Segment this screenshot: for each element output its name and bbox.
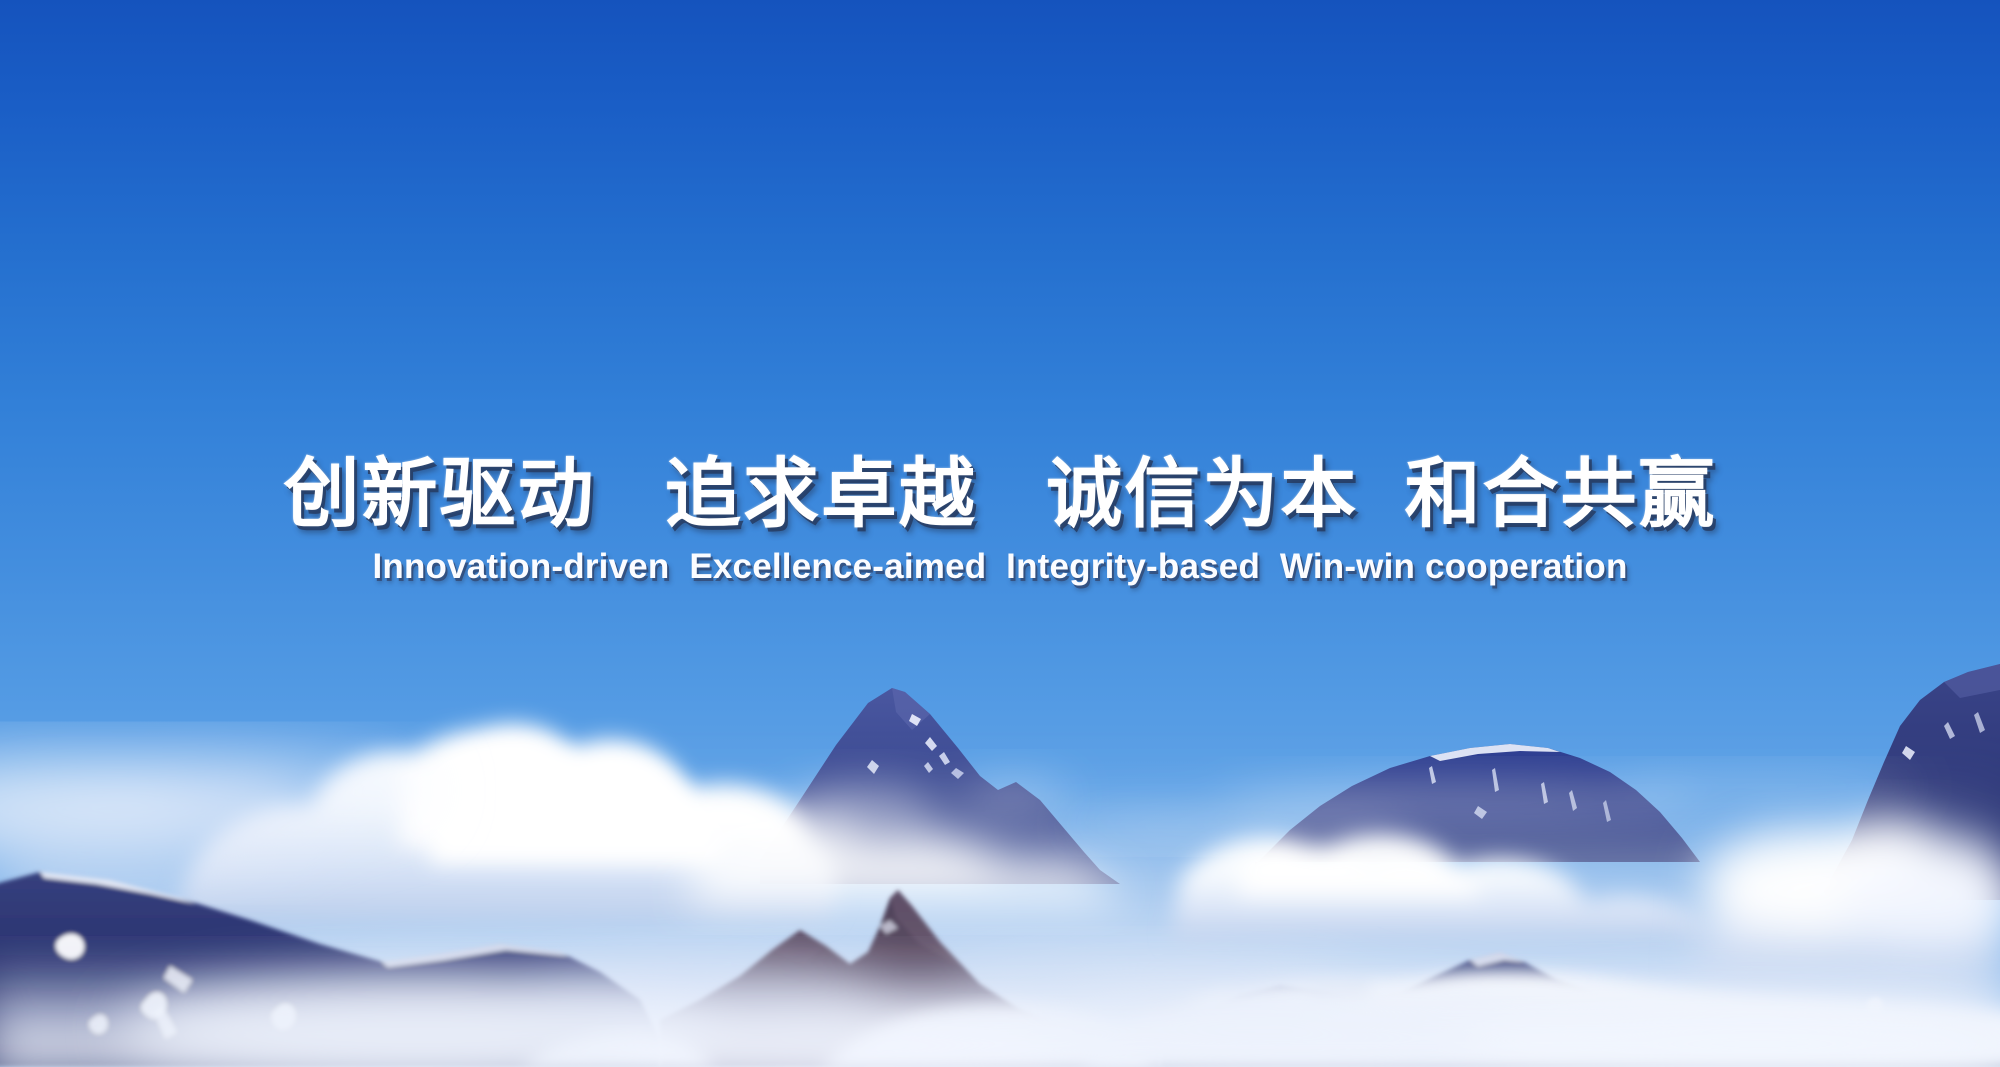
slogan-block: 创新驱动 追求卓越 诚信为本 和合共赢 Innovation-driven Ex…	[0, 455, 2000, 586]
slogan-english: Innovation-driven Excellence-aimed Integ…	[0, 548, 2000, 587]
slogan-chinese: 创新驱动 追求卓越 诚信为本 和合共赢	[0, 455, 2000, 536]
banner-hero: 创新驱动 追求卓越 诚信为本 和合共赢 Innovation-driven Ex…	[0, 0, 2000, 1067]
